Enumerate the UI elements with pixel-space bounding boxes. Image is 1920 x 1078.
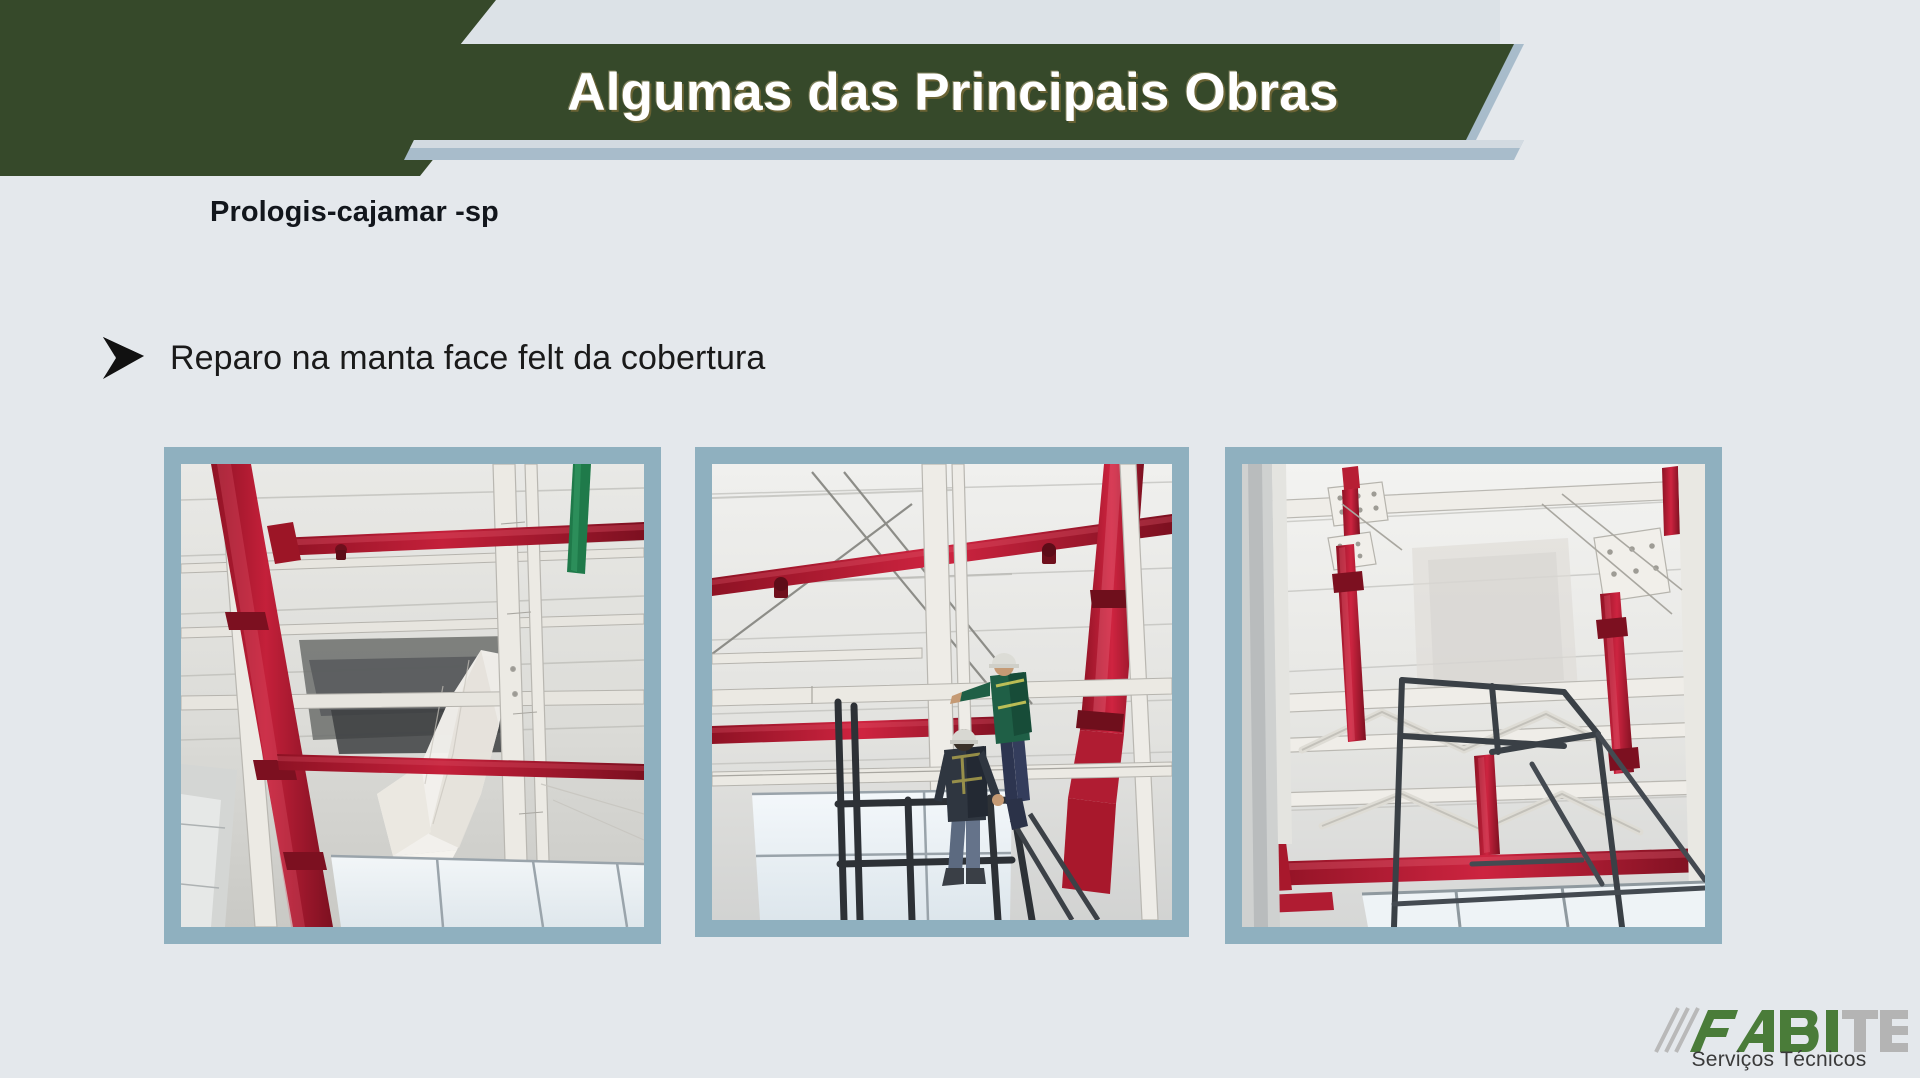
photo-frame-3[interactable]	[1225, 447, 1722, 944]
slide-header: Algumas das Principais Obras	[0, 0, 1920, 182]
bullet-item: Reparo na manta face felt da cobertura	[100, 335, 765, 381]
photo-roof-structure-scaffold	[1242, 464, 1705, 927]
photo-workers-on-scaffold	[712, 464, 1172, 920]
project-subtitle: Prologis-cajamar -sp	[210, 196, 499, 229]
fabitec-wordmark-icon	[1650, 1004, 1908, 1054]
company-logo: Serviços Técnicos	[1650, 1004, 1908, 1076]
photo-gallery	[164, 447, 1712, 944]
arrow-right-bullet-icon	[100, 335, 152, 381]
header-underline-highlight	[404, 140, 1524, 148]
logo-tagline: Serviços Técnicos	[1650, 1048, 1908, 1072]
photo-frame-2[interactable]	[695, 447, 1189, 937]
bullet-item-label: Reparo na manta face felt da cobertura	[170, 339, 765, 378]
photo-frame-1[interactable]	[164, 447, 661, 944]
header-title-banner: Algumas das Principais Obras	[404, 44, 1514, 140]
presentation-slide: Algumas das Principais Obras Prologis-ca…	[0, 0, 1920, 1078]
photo-ceiling-torn-membrane	[181, 464, 644, 927]
page-title: Algumas das Principais Obras	[567, 62, 1338, 123]
